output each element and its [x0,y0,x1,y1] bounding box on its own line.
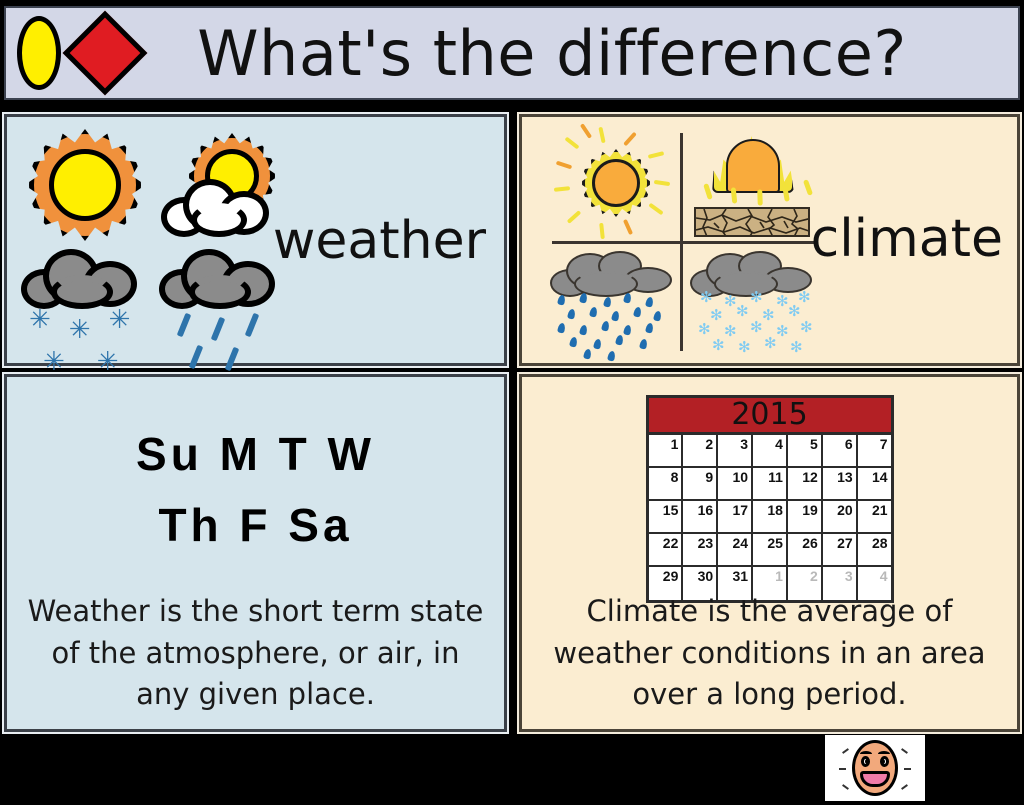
snowfall-group: ✳ ✳ ✳ ✳ ✳ [29,309,130,373]
snowflake-icon: ✻ [750,291,763,304]
yellow-ellipse-icon [17,16,61,90]
calendar-year-header: 2015 [649,398,891,435]
calendar-day-cell[interactable]: 27 [823,534,858,567]
calendar-day-cell[interactable]: 1 [649,435,684,468]
calendar-day-cell[interactable]: 21 [858,501,891,534]
calendar-day-cell[interactable]: 16 [683,501,718,534]
calendar-day-cell[interactable]: 22 [649,534,684,567]
smiley-face-icon [852,740,898,796]
snowflake-icon: ✻ [700,291,713,304]
calendar-day-cell[interactable]: 3 [718,435,753,468]
raindrop-icon [177,313,192,338]
snowflake-icon: ✳ [29,309,51,341]
grey-cloud [21,247,145,309]
crack-lines [696,209,810,237]
snow-cloud-icon: ✳ ✳ ✳ ✳ ✳ [21,247,145,309]
calendar-day-cell[interactable]: 8 [649,468,684,501]
calendar-day-cell[interactable]: 19 [788,501,823,534]
calendar-week-row: 15161718192021 [649,501,891,534]
raindrop-icon [211,317,226,342]
calendar-day-cell[interactable]: 5 [788,435,823,468]
sun-behind-cloud-icon [161,131,279,243]
climate-quadrant-grid: ✻ ✻ ✻ ✻ ✻ ✻ ✻ ✻ ✻ ✻ ✻ ✻ ✻ ✻ ✻ ✻ ✻ [548,127,814,357]
weather-icon-grid: ✳ ✳ ✳ ✳ ✳ [21,129,283,355]
snowflake-icon: ✻ [762,309,775,322]
snowflake-icon: ✳ [69,319,91,341]
snowflake-icon: ✻ [724,295,737,308]
calendar-day-cell[interactable]: 20 [823,501,858,534]
calendar-day-cell[interactable]: 2 [683,435,718,468]
snowflake-icon: ✻ [750,321,763,334]
snowflake-icon: ✻ [764,337,777,350]
calendar-day-cell[interactable]: 28 [858,534,891,567]
face-shape [852,740,898,796]
raindrop-icon [245,313,260,338]
climate-description: Climate is the average of weather condit… [538,591,1001,715]
days-line-2: Th F Sa [7,490,504,561]
sun-core [49,149,121,221]
snowflake-icon: ✻ [790,341,803,354]
raindrop-icon [189,345,204,370]
days-line-1: Su M T W [7,419,504,490]
snowflakes-group: ✻ ✻ ✻ ✻ ✻ ✻ ✻ ✻ ✻ ✻ ✻ ✻ ✻ ✻ ✻ ✻ ✻ [694,291,812,353]
quadrant-horizontal-divider [552,241,814,244]
header-banner: What's the difference? [4,6,1020,100]
snowflake-icon: ✻ [736,305,749,318]
snowflake-icon: ✻ [776,295,789,308]
calendar-day-cell[interactable]: 14 [858,468,891,501]
white-cloud [161,175,279,237]
snowflake-icon: ✻ [710,309,723,322]
weather-icons-panel: ✳ ✳ ✳ ✳ ✳ [4,114,507,366]
days-of-week-group: Su M T W Th F Sa [7,419,504,562]
weather-definition-panel: Su M T W Th F Sa Weather is the short te… [4,374,507,732]
page-title: What's the difference? [146,17,1018,90]
snowflake-icon: ✻ [698,323,711,336]
climate-label: climate [811,209,1003,269]
snowflake-icon: ✻ [776,325,789,338]
snowflake-icon: ✻ [724,325,737,338]
calendar-week-row: 1234567 [649,435,891,468]
hot-sun-icon [554,131,676,239]
calendar-day-cell[interactable]: 15 [649,501,684,534]
snowflake-icon: ✳ [109,309,131,341]
snowflake-icon: ✳ [97,351,119,373]
calendar-day-cell[interactable]: 25 [753,534,788,567]
raindrop-icon [225,347,240,372]
calendar-day-cell[interactable]: 18 [753,501,788,534]
calendar-day-cell[interactable]: 24 [718,534,753,567]
raindrops-group [554,293,672,355]
calendar-day-cell[interactable]: 17 [718,501,753,534]
grey-cloud [159,247,283,309]
calendar-day-cell[interactable]: 11 [753,468,788,501]
calendar-week-row: 891011121314 [649,468,891,501]
snowflake-icon: ✳ [43,351,65,373]
half-sun-icon [698,129,808,195]
sun-icon [29,129,141,241]
sun-disk [726,139,780,193]
rain-cloud-icon [159,247,283,309]
calendar-day-cell[interactable]: 4 [753,435,788,468]
climate-icons-panel: ✻ ✻ ✻ ✻ ✻ ✻ ✻ ✻ ✻ ✻ ✻ ✻ ✻ ✻ ✻ ✻ ✻ [519,114,1020,366]
pupil-right [881,759,885,764]
snowflake-icon: ✻ [738,341,751,354]
calendar-day-cell[interactable]: 7 [858,435,891,468]
climate-definition-panel: 2015 12345678910111213141516171819202122… [519,374,1020,732]
calendar-2015: 2015 12345678910111213141516171819202122… [646,395,894,603]
calendar-day-cell[interactable]: 10 [718,468,753,501]
calendar-day-cell[interactable]: 23 [683,534,718,567]
snowflake-icon: ✻ [800,321,813,334]
header-shape-icons [6,8,146,98]
cracked-earth-icon [694,207,810,237]
weather-label: weather [273,211,486,271]
snowflake-icon: ✻ [712,339,725,352]
calendar-day-cell[interactable]: 9 [683,468,718,501]
grey-cloud [550,251,674,299]
pupil-left [865,759,869,764]
calendar-body: 1234567891011121314151617181920212223242… [649,435,891,600]
smiley-face-badge [825,735,925,801]
sun-disk [592,159,640,207]
weather-description: Weather is the short term state of the a… [23,591,488,715]
calendar-day-cell[interactable]: 13 [823,468,858,501]
calendar-day-cell[interactable]: 12 [788,468,823,501]
red-diamond-icon [63,11,148,96]
calendar-day-cell[interactable]: 26 [788,534,823,567]
calendar-week-row: 22232425262728 [649,534,891,567]
snowflake-icon: ✻ [788,305,801,318]
calendar-day-cell[interactable]: 6 [823,435,858,468]
rainfall-group [181,313,291,383]
